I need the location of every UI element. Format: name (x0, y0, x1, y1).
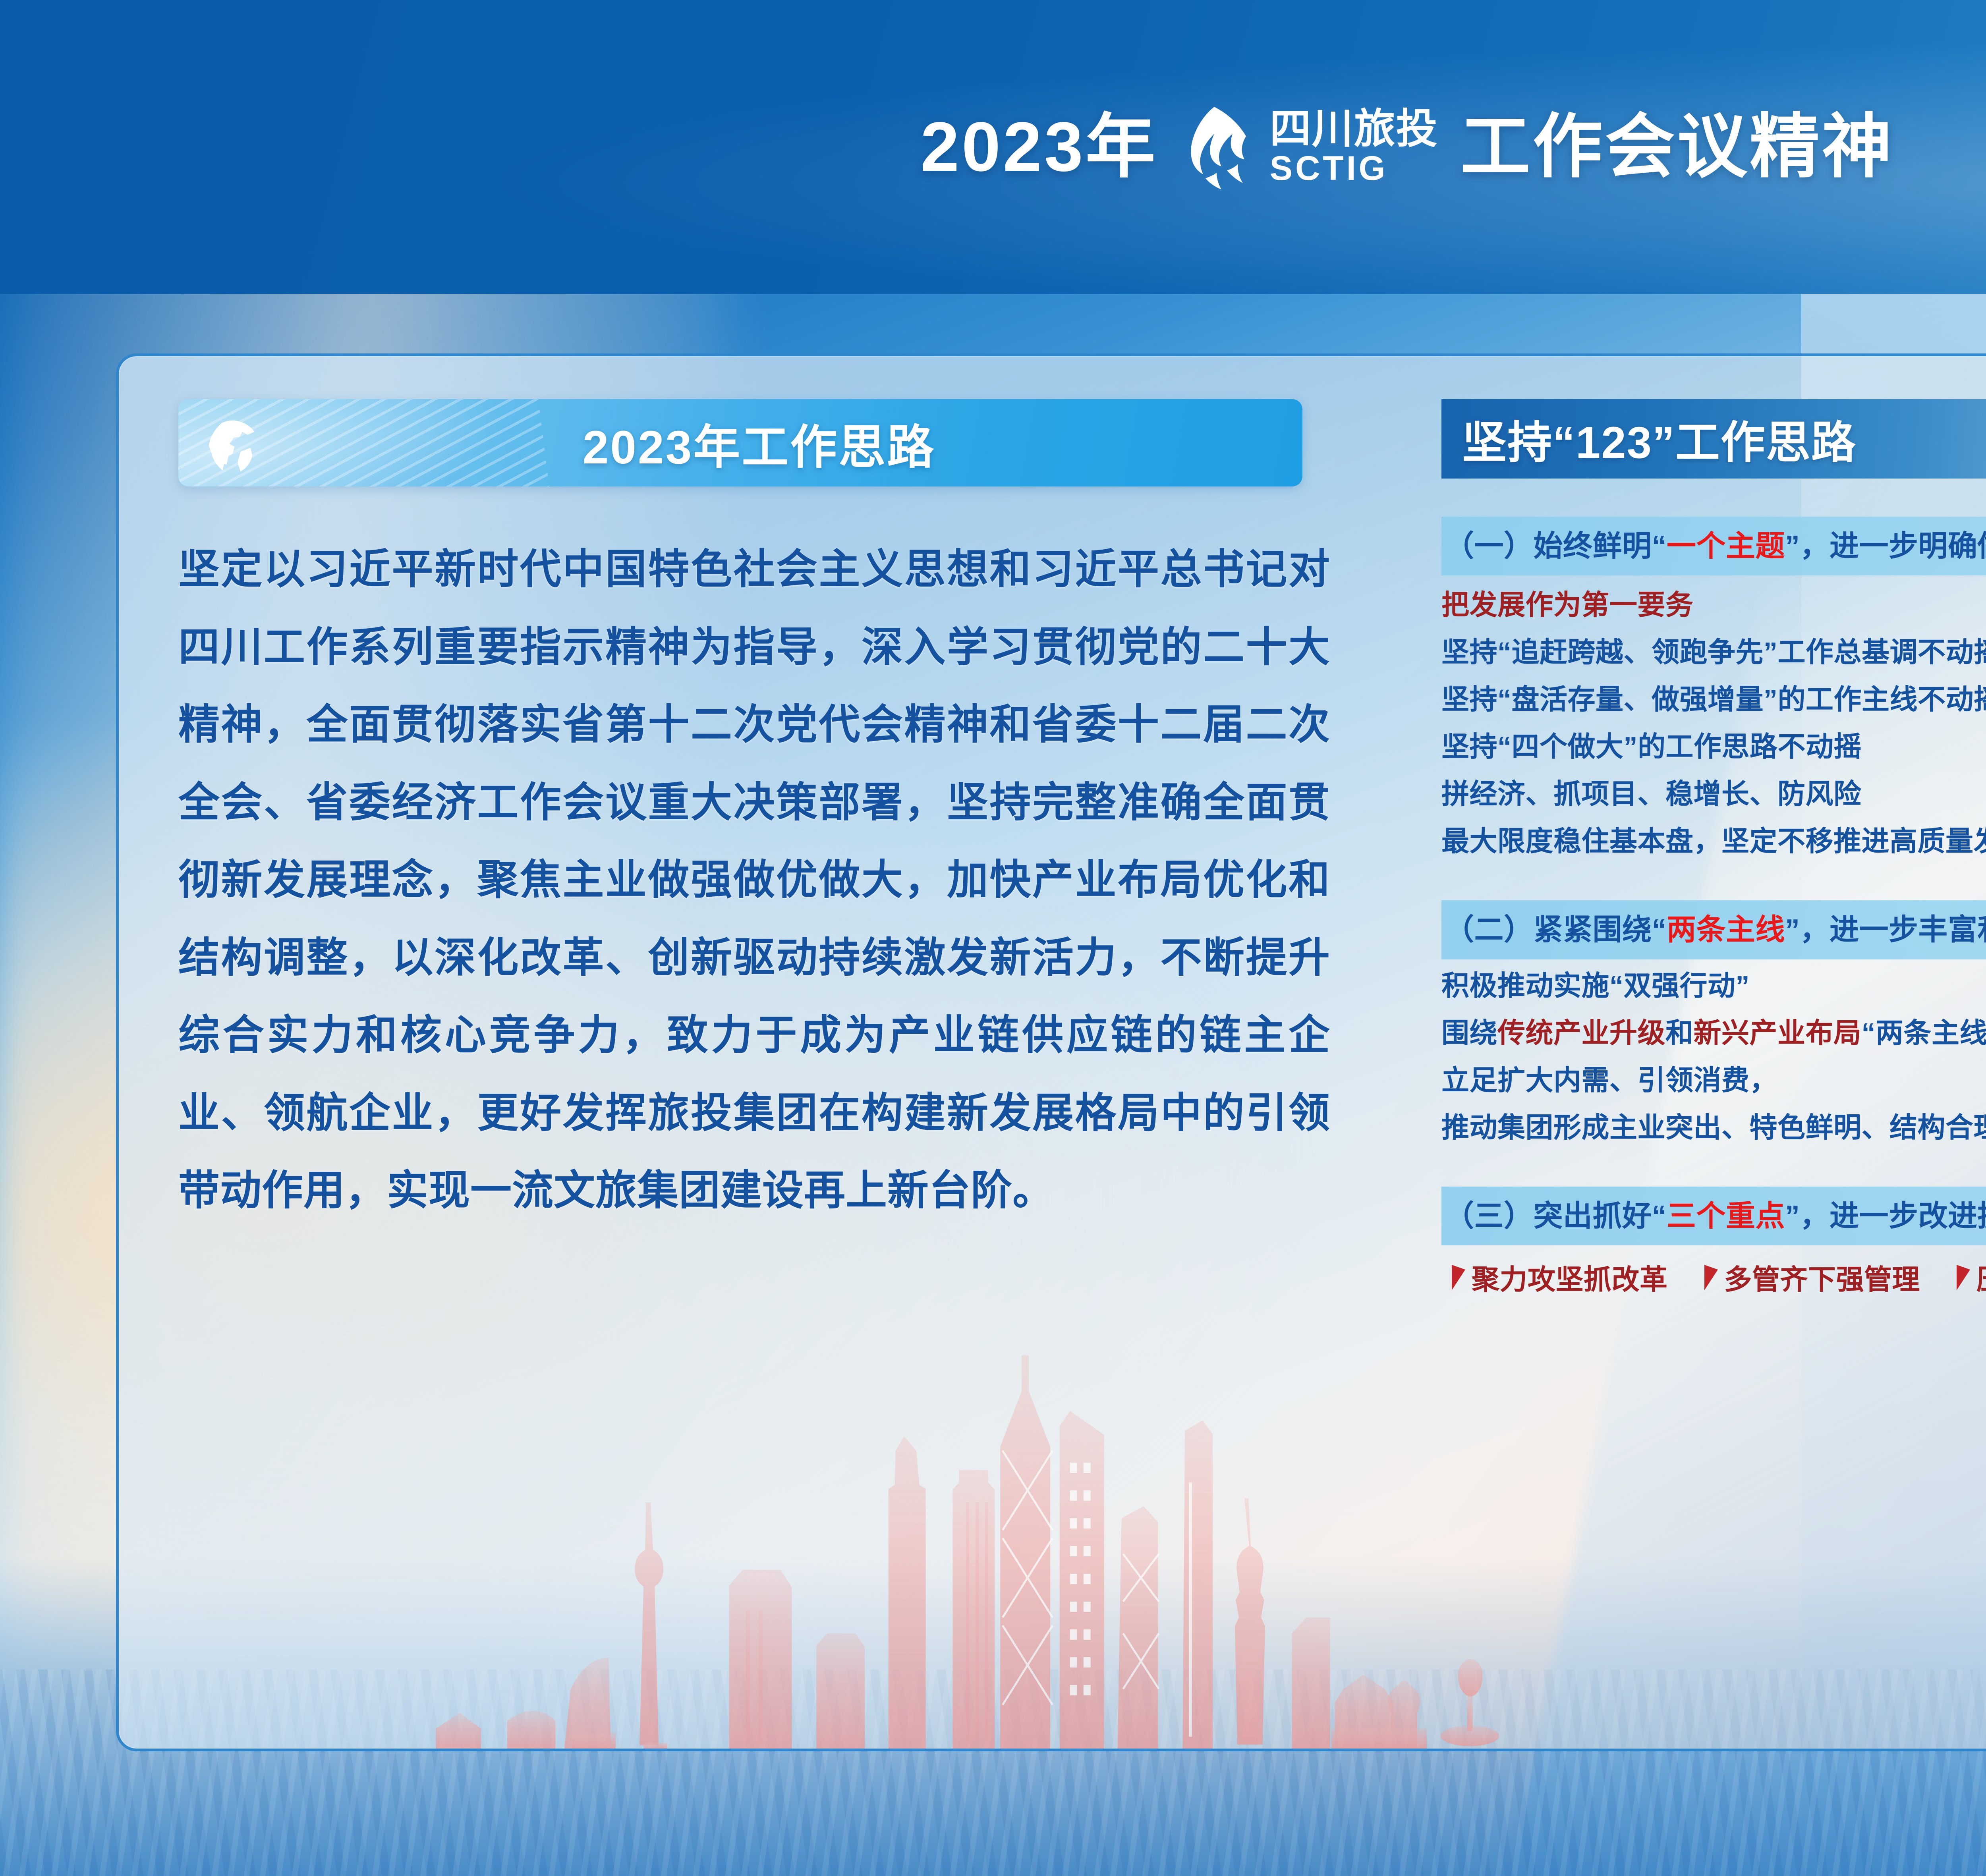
key-point-item: 聚力攻坚抓改革 (1452, 1257, 1668, 1297)
section-three-key-points: 聚力攻坚抓改革 多管齐下强管理 压实责任保安全 (1441, 1257, 1986, 1297)
section-one-subheading: 把发展作为第一要务 (1441, 584, 1986, 626)
section-one-number: （一） (1445, 529, 1534, 562)
key-point-2: 多管齐下强管理 (1724, 1257, 1920, 1297)
sctig-logo-mark-icon (1180, 104, 1260, 190)
left-panel-body-text: 坚定以习近平新时代中国特色社会主义思想和习近平总书记对四川工作系列重要指示精神为… (178, 531, 1330, 1230)
section-two-title-before: 紧紧围绕“ (1534, 913, 1667, 946)
section-one-title-before: 始终鲜明“ (1534, 529, 1667, 562)
globe-icon (204, 413, 263, 473)
section-one-highlight: 一个主题 (1667, 529, 1785, 562)
left-panel-title: 2023年工作思路 (263, 409, 1302, 477)
left-panel-header-badge: 2023年工作思路 (178, 399, 1302, 486)
emphasis-middle: 和 (1665, 1017, 1694, 1048)
emphasis-dark-a: 传统产业升级 (1497, 1017, 1665, 1048)
triangle-bullet-icon (1957, 1265, 1970, 1290)
right-column: 坚持“123”工作思路 （一）始终鲜明“一个主题”，进一步明确做好全年工作的总体… (1441, 399, 1986, 1749)
company-logo: 四川旅投 SCTIG (1180, 104, 1438, 190)
key-point-item: 压实责任保安全 (1957, 1257, 1986, 1297)
section-one-line-2: 坚持“盘活存量、做强增量”的工作主线不动摇 (1441, 679, 1986, 720)
key-point-item: 多管齐下强管理 (1704, 1257, 1920, 1297)
emphasis-dark-b: 新兴产业布局 (1694, 1017, 1862, 1048)
section-three-highlight: 三个重点 (1667, 1199, 1785, 1232)
logo-chinese-name: 四川旅投 (1270, 108, 1438, 150)
poster-header: 2023年 四川旅投 SCTIG 工作会议精神 (0, 0, 1986, 294)
section-two-emphasis-line: 围绕传统产业升级和新兴产业布局“两条主线” (1441, 1012, 1986, 1054)
right-panel-sections: （一）始终鲜明“一个主题”，进一步明确做好全年工作的总体要求 把发展作为第一要务… (1441, 517, 1986, 1297)
section-one-line-1: 坚持“追赶跨越、领跑争先”工作总基调不动摇 (1441, 631, 1986, 673)
section-one-line-3: 坚持“四个做大”的工作思路不动摇 (1441, 726, 1986, 768)
right-panel-header-badge: 坚持“123”工作思路 (1441, 399, 1986, 479)
section-one-line-4: 拼经济、抓项目、稳增长、防风险 (1441, 773, 1986, 815)
section-two-number: （二） (1445, 913, 1534, 946)
section-three-title-after: ”，进一步改进提升公司治理体系和治理效能 (1785, 1199, 1986, 1232)
left-column: 2023年工作思路 坚定以习近平新时代中国特色社会主义思想和习近平总书记对四川工… (178, 399, 1394, 1749)
key-point-3: 压实责任保安全 (1976, 1257, 1986, 1297)
section-three-title: （三）突出抓好“三个重点”，进一步改进提升公司治理体系和治理效能 (1441, 1187, 1986, 1245)
section-three: （三）突出抓好“三个重点”，进一步改进提升公司治理体系和治理效能 聚力攻坚抓改革… (1441, 1187, 1986, 1297)
triangle-bullet-icon (1452, 1265, 1465, 1290)
section-one-title-after: ”，进一步明确做好全年工作的总体要求 (1785, 529, 1986, 562)
section-two-title: （二）紧紧围绕“两条主线”，进一步丰富和完善集团高质量发展的产业格局 (1441, 900, 1986, 959)
logo-english-name: SCTIG (1270, 151, 1388, 185)
section-two-line-2: 推动集团形成主业突出、特色鲜明、结构合理、发展协同的产业格局。 (1441, 1107, 1986, 1148)
content-panel: 2023年工作思路 坚定以习近平新时代中国特色社会主义思想和习近平总书记对四川工… (116, 353, 1986, 1751)
header-year-label: 2023年 (920, 112, 1158, 182)
section-two-line-1: 立足扩大内需、引领消费， (1441, 1060, 1986, 1101)
section-one-line-5: 最大限度稳住基本盘，坚定不移推进高质量发展。 (1441, 820, 1986, 862)
section-two-highlight: 两条主线 (1667, 913, 1785, 946)
section-one-title: （一）始终鲜明“一个主题”，进一步明确做好全年工作的总体要求 (1441, 517, 1986, 575)
panel-columns: 2023年工作思路 坚定以习近平新时代中国特色社会主义思想和习近平总书记对四川工… (119, 356, 1986, 1749)
section-one: （一）始终鲜明“一个主题”，进一步明确做好全年工作的总体要求 把发展作为第一要务… (1441, 517, 1986, 862)
emphasis-suffix: “两条主线” (1862, 1017, 1986, 1048)
right-panel-title: 坚持“123”工作思路 (1441, 407, 1857, 471)
emphasis-prefix: 围绕 (1441, 1017, 1497, 1048)
section-three-number: （三） (1445, 1199, 1534, 1232)
key-point-1: 聚力攻坚抓改革 (1472, 1257, 1668, 1297)
section-two-title-after: ”，进一步丰富和完善集团高质量发展的产业格局 (1785, 913, 1986, 946)
triangle-bullet-icon (1704, 1265, 1718, 1290)
section-three-title-before: 突出抓好“ (1534, 1199, 1667, 1232)
section-two-subheading: 积极推动实施“双强行动” (1441, 965, 1986, 1007)
section-two: （二）紧紧围绕“两条主线”，进一步丰富和完善集团高质量发展的产业格局 积极推动实… (1441, 900, 1986, 1148)
header-title-suffix: 工作会议精神 (1461, 112, 1894, 182)
